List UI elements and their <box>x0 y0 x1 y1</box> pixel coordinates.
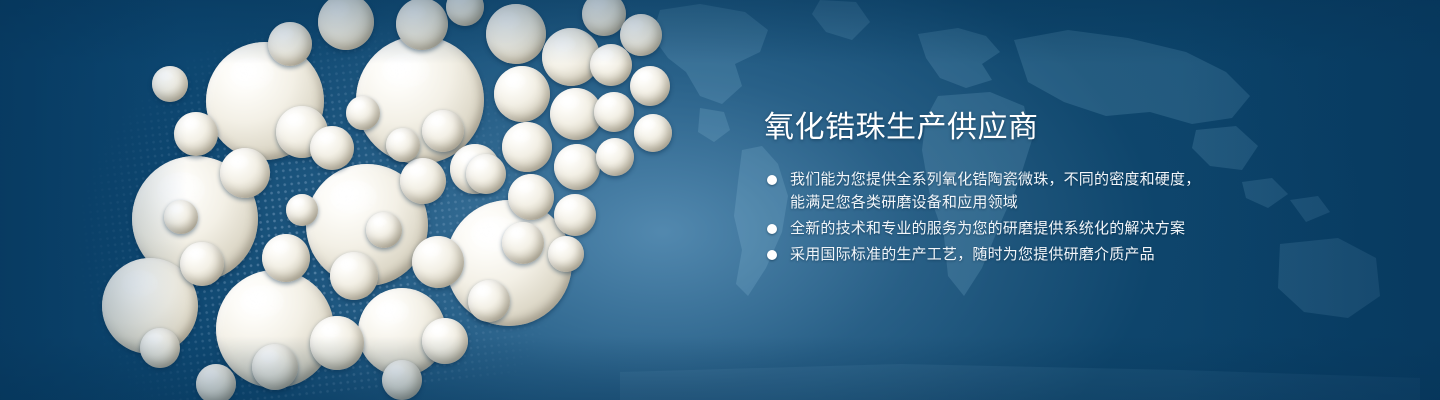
list-item: 全新的技术和专业的服务为您的研磨提供系统化的解决方案 <box>764 217 1234 240</box>
page-title: 氧化锆珠生产供应商 <box>764 108 1234 148</box>
list-item-line: 能满足您各类研磨设备和应用领域 <box>790 191 1234 214</box>
list-item-line: 采用国际标准的生产工艺，随时为您提供研磨介质产品 <box>790 243 1234 266</box>
bullet-dot-icon <box>767 175 777 185</box>
list-item: 采用国际标准的生产工艺，随时为您提供研磨介质产品 <box>764 243 1234 266</box>
bullet-dot-icon <box>767 224 777 234</box>
banner-copy: 氧化锆珠生产供应商 我们能为您提供全系列氧化锆陶瓷微珠，不同的密度和硬度， 能满… <box>764 108 1234 269</box>
hero-banner: 氧化锆珠生产供应商 我们能为您提供全系列氧化锆陶瓷微珠，不同的密度和硬度， 能满… <box>0 0 1440 400</box>
feature-list: 我们能为您提供全系列氧化锆陶瓷微珠，不同的密度和硬度， 能满足您各类研磨设备和应… <box>764 168 1234 266</box>
list-item-line: 全新的技术和专业的服务为您的研磨提供系统化的解决方案 <box>790 217 1234 240</box>
list-item-line: 我们能为您提供全系列氧化锆陶瓷微珠，不同的密度和硬度， <box>790 168 1234 191</box>
list-item: 我们能为您提供全系列氧化锆陶瓷微珠，不同的密度和硬度， 能满足您各类研磨设备和应… <box>764 168 1234 214</box>
bullet-dot-icon <box>767 250 777 260</box>
